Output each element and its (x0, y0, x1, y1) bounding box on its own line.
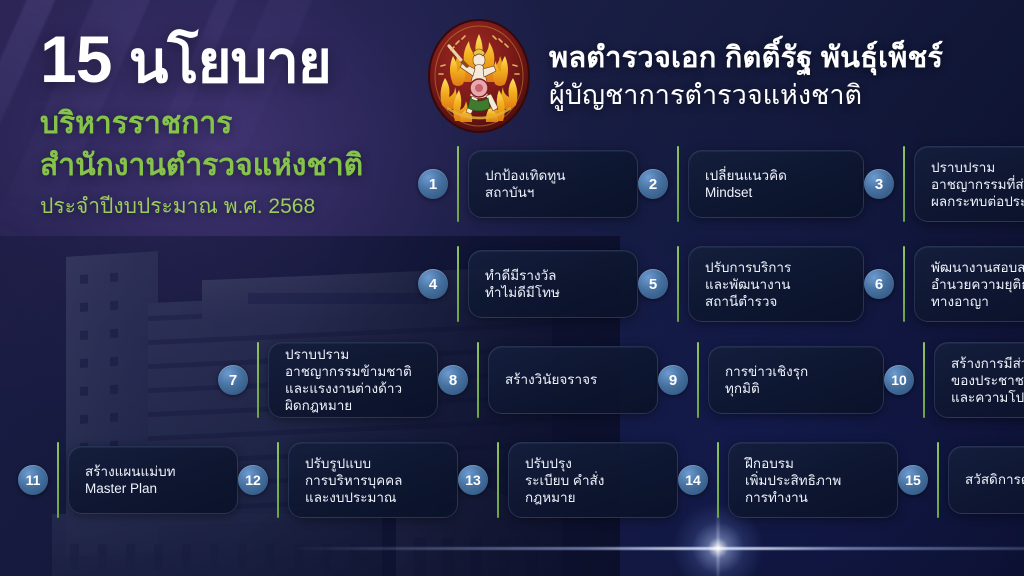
policy-item-12[interactable]: 12 ปรับรูปแบบ การบริหารบุคคล และงบประมาณ (238, 442, 458, 518)
policy-card[interactable]: สร้างวินัยจราจร (488, 346, 658, 414)
policy-item-7[interactable]: 7 ปราบปราม อาชญากรรมข้ามชาติ และแรงงานต่… (218, 342, 438, 418)
policy-card[interactable]: ปราบปราม อาชญากรรมที่ส่ง ผลกระทบต่อประชา… (914, 146, 1024, 222)
policy-number-badge: 4 (418, 269, 448, 299)
policy-item-1[interactable]: 1 ปกป้องเทิดทูน สถาบันฯ (418, 146, 638, 222)
policy-card[interactable]: เปลี่ยนแนวคิด Mindset (688, 150, 864, 218)
policy-item-14[interactable]: 14 ฝึกอบรม เพิ่มประสิทธิภาพ การทำงาน (678, 442, 898, 518)
policy-item-10[interactable]: 10 สร้างการมีส่วนร่วม ของประชาชน และความ… (884, 342, 1024, 418)
policy-divider (717, 442, 719, 518)
policy-text: พัฒนางานสอบสวน อำนวยความยุติธรรม ทางอาญา (931, 259, 1024, 310)
policy-card[interactable]: ปราบปราม อาชญากรรมข้ามชาติ และแรงงานต่าง… (268, 342, 438, 418)
policy-number-badge: 2 (638, 169, 668, 199)
policy-item-15[interactable]: 15 สวัสดิการตำรวจ (898, 442, 1024, 518)
policy-divider (677, 246, 679, 322)
policy-card[interactable]: ฝึกอบรม เพิ่มประสิทธิภาพ การทำงาน (728, 442, 898, 518)
policy-text: เปลี่ยนแนวคิด Mindset (705, 167, 787, 202)
policy-text: ปรับการบริการ และพัฒนางาน สถานีตำรวจ (705, 259, 791, 310)
policy-number-badge: 8 (438, 365, 468, 395)
policy-text: สร้างการมีส่วนร่วม ของประชาชน และความโปร… (951, 355, 1024, 406)
policy-card[interactable]: ทำดีมีรางวัล ทำไม่ดีมีโทษ (468, 250, 638, 318)
policy-text: ฝึกอบรม เพิ่มประสิทธิภาพ การทำงาน (745, 455, 841, 506)
policy-item-13[interactable]: 13 ปรับปรุง ระเบียบ คำสั่ง กฎหมาย (458, 442, 678, 518)
policy-text: ปราบปราม อาชญากรรมข้ามชาติ และแรงงานต่าง… (285, 346, 412, 414)
policy-divider (57, 442, 59, 518)
policy-divider (923, 342, 925, 418)
policy-number-badge: 11 (18, 465, 48, 495)
policy-card[interactable]: ปรับปรุง ระเบียบ คำสั่ง กฎหมาย (508, 442, 678, 518)
policy-number-badge: 10 (884, 365, 914, 395)
policy-text: สร้างแผนแม่บท Master Plan (85, 463, 176, 498)
policy-row-3: 7 ปราบปราม อาชญากรรมข้ามชาติ และแรงงานต่… (218, 342, 1024, 418)
policy-grid: 1 ปกป้องเทิดทูน สถาบันฯ 2 เปลี่ยนแนวคิด … (0, 0, 1024, 576)
policy-text: ทำดีมีรางวัล ทำไม่ดีมีโทษ (485, 267, 560, 302)
policy-row-1: 1 ปกป้องเทิดทูน สถาบันฯ 2 เปลี่ยนแนวคิด … (418, 146, 1024, 222)
policy-number-badge: 9 (658, 365, 688, 395)
policy-divider (903, 146, 905, 222)
policy-item-5[interactable]: 5 ปรับการบริการ และพัฒนางาน สถานีตำรวจ (638, 246, 864, 322)
policy-text: การข่าวเชิงรุก ทุกมิติ (725, 363, 808, 398)
policy-item-2[interactable]: 2 เปลี่ยนแนวคิด Mindset (638, 146, 864, 222)
policy-divider (257, 342, 259, 418)
policy-number-badge: 1 (418, 169, 448, 199)
policy-divider (903, 246, 905, 322)
policy-item-6[interactable]: 6 พัฒนางานสอบสวน อำนวยความยุติธรรม ทางอา… (864, 246, 1024, 322)
policy-divider (697, 342, 699, 418)
policy-card[interactable]: สร้างแผนแม่บท Master Plan (68, 446, 238, 514)
policy-number-badge: 5 (638, 269, 668, 299)
policy-divider (937, 442, 939, 518)
policy-card[interactable]: พัฒนางานสอบสวน อำนวยความยุติธรรม ทางอาญา (914, 246, 1024, 322)
policy-number-badge: 3 (864, 169, 894, 199)
policy-number-badge: 6 (864, 269, 894, 299)
policy-card[interactable]: ปรับการบริการ และพัฒนางาน สถานีตำรวจ (688, 246, 864, 322)
policy-number-badge: 14 (678, 465, 708, 495)
policy-item-9[interactable]: 9 การข่าวเชิงรุก ทุกมิติ (658, 342, 884, 418)
policy-number-badge: 13 (458, 465, 488, 495)
policy-item-8[interactable]: 8 สร้างวินัยจราจร (438, 342, 658, 418)
policy-card[interactable]: ปกป้องเทิดทูน สถาบันฯ (468, 150, 638, 218)
policy-item-11[interactable]: 11 สร้างแผนแม่บท Master Plan (18, 442, 238, 518)
policy-card[interactable]: สร้างการมีส่วนร่วม ของประชาชน และความโปร… (934, 342, 1024, 418)
policy-card[interactable]: ปรับรูปแบบ การบริหารบุคคล และงบประมาณ (288, 442, 458, 518)
policy-text: ปราบปราม อาชญากรรมที่ส่ง ผลกระทบต่อประชา… (931, 159, 1024, 210)
policy-row-2: 4 ทำดีมีรางวัล ทำไม่ดีมีโทษ 5 ปรับการบริ… (418, 246, 1024, 322)
policy-divider (477, 342, 479, 418)
policy-card[interactable]: การข่าวเชิงรุก ทุกมิติ (708, 346, 884, 414)
policy-text: สวัสดิการตำรวจ (965, 471, 1024, 489)
policy-divider (457, 246, 459, 322)
policy-item-4[interactable]: 4 ทำดีมีรางวัล ทำไม่ดีมีโทษ (418, 246, 638, 322)
policy-divider (277, 442, 279, 518)
policy-text: ปกป้องเทิดทูน สถาบันฯ (485, 167, 565, 202)
infographic-canvas: 15 นโยบาย บริหารราชการ สำนักงานตำรวจแห่ง… (0, 0, 1024, 576)
policy-item-3[interactable]: 3 ปราบปราม อาชญากรรมที่ส่ง ผลกระทบต่อประ… (864, 146, 1024, 222)
policy-text: สร้างวินัยจราจร (505, 371, 597, 389)
policy-divider (497, 442, 499, 518)
policy-row-4: 11 สร้างแผนแม่บท Master Plan 12 ปรับรูปแ… (18, 442, 1024, 518)
policy-number-badge: 7 (218, 365, 248, 395)
policy-number-badge: 12 (238, 465, 268, 495)
policy-text: ปรับรูปแบบ การบริหารบุคคล และงบประมาณ (305, 455, 402, 506)
policy-divider (677, 146, 679, 222)
policy-divider (457, 146, 459, 222)
policy-number-badge: 15 (898, 465, 928, 495)
policy-text: ปรับปรุง ระเบียบ คำสั่ง กฎหมาย (525, 455, 604, 506)
policy-card[interactable]: สวัสดิการตำรวจ (948, 446, 1024, 514)
